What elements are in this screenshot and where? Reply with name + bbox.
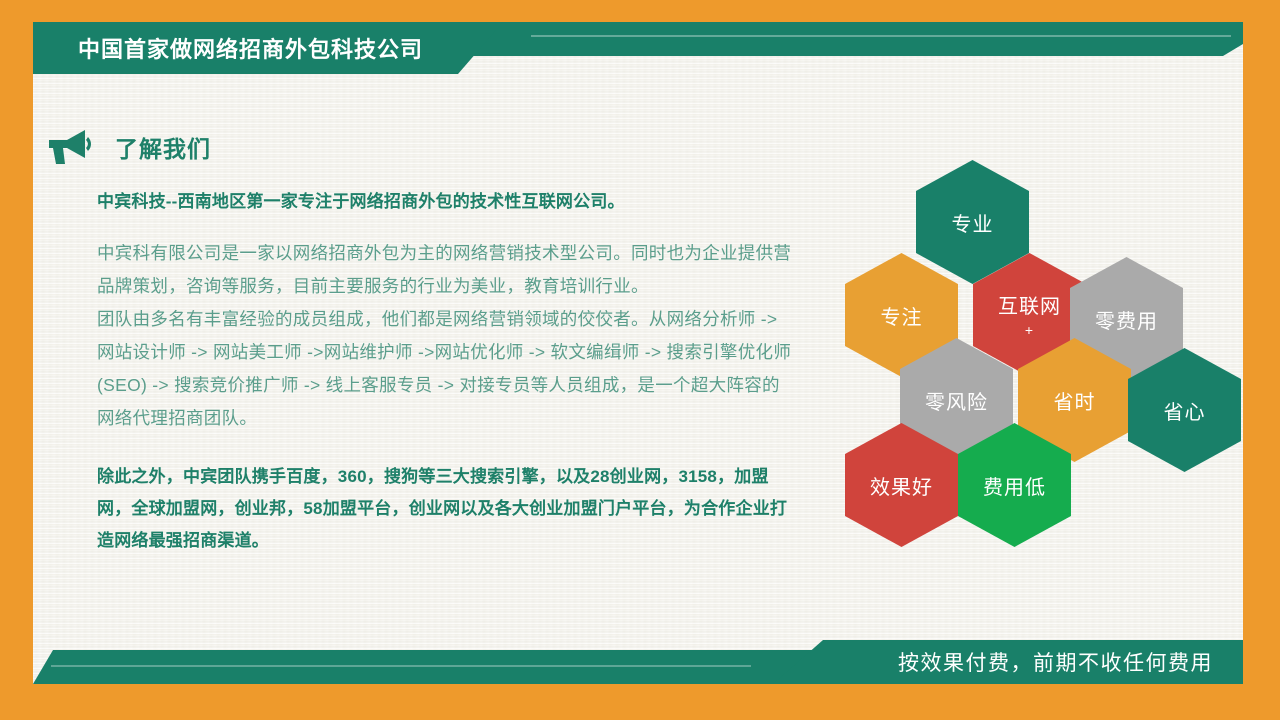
header-hairline xyxy=(531,35,1231,37)
section-heading: 了解我们 xyxy=(45,128,211,166)
megaphone-icon xyxy=(45,128,93,166)
footer-thin-band xyxy=(33,650,833,684)
hexagon-label: 专注 xyxy=(881,301,923,330)
hexagon-label: 零风险 xyxy=(925,386,988,415)
hexagon-label: 互联网 xyxy=(998,290,1061,319)
hexagon-label: 专业 xyxy=(952,208,994,237)
hexagon-label: 省时 xyxy=(1054,386,1096,415)
section-heading-label: 了解我们 xyxy=(115,130,211,164)
hexagon-cluster: 专业专注互联网+零费用零风险省时省心效果好费用低 xyxy=(830,160,1230,525)
lead-statement: 中宾科技--西南地区第一家专注于网络招商外包的技术性互联网公司。 xyxy=(97,190,797,215)
footer-tagline: 按效果付费，前期不收任何费用 xyxy=(898,640,1213,684)
body-text-column: 中宾科技--西南地区第一家专注于网络招商外包的技术性互联网公司。 中宾科有限公司… xyxy=(97,190,797,557)
hexagon-label: 省心 xyxy=(1164,396,1206,425)
hexagon-label: 效果好 xyxy=(870,471,933,500)
hexagon-sublabel: + xyxy=(1025,321,1034,339)
hexagon-label: 零费用 xyxy=(1095,305,1158,334)
header-bar: 中国首家做网络招商外包科技公司 xyxy=(33,22,1243,74)
paragraph-company-intro: 中宾科有限公司是一家以网络招商外包为主的网络营销技术型公司。同时也为企业提供营品… xyxy=(97,237,797,303)
footer-bar: 按效果付费，前期不收任何费用 xyxy=(33,640,1243,684)
paragraph-team-roles: 团队由多名有丰富经验的成员组成，他们都是网络营销领域的佼佼者。从网络分析师 ->… xyxy=(97,303,797,435)
page-title: 中国首家做网络招商外包科技公司 xyxy=(78,22,423,74)
footer-hairline xyxy=(51,665,751,667)
header-thin-band xyxy=(433,22,1243,56)
slide-root: 中国首家做网络招商外包科技公司 了解我们 中宾科技--西南地区第一家专注于网络招… xyxy=(0,0,1280,720)
hexagon-label: 费用低 xyxy=(983,471,1046,500)
paragraph-partners: 除此之外，中宾团队携手百度，360，搜狗等三大搜索引擎，以及28创业网，3158… xyxy=(97,461,797,557)
